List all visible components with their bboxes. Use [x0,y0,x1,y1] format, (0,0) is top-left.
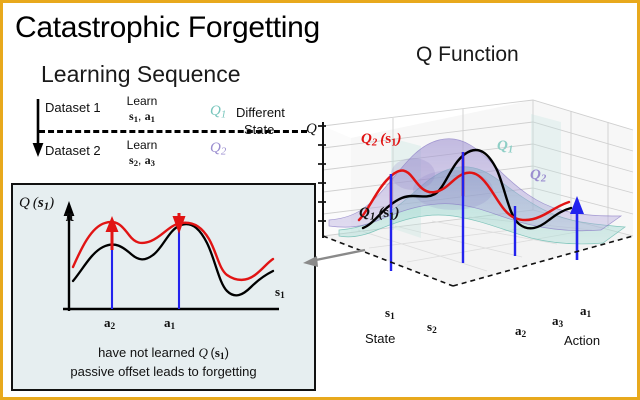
dataset-1-label: Dataset 1 [45,100,101,115]
q-axis-label: Q [306,121,317,138]
q1-surface-label: Q1 [497,138,513,155]
inset-tick-a1: a1 [164,315,175,332]
q2-curve-label: Q2 (s1) [361,131,402,148]
learn-word-2: Learn [107,139,177,153]
learn-target-1: s1, a1 [107,110,177,125]
page-title: Catastrophic Forgetting [15,11,320,45]
different-state-line2: State [244,122,274,137]
inset-tick-a2: a2 [104,315,115,332]
inset-x-axis-label: s1 [275,284,285,301]
slide-canvas: Catastrophic Forgetting Learning Sequenc… [0,0,640,400]
learn-block-1: Learn s1, a1 [107,95,177,125]
action-axis-name: Action [564,333,600,348]
state-axis-name: State [365,331,395,346]
q-function-title: Q Function [416,43,519,67]
learn-block-2: Learn s2, a3 [107,139,177,169]
inset-caption-line1: have not learned Q (s1) [11,345,316,362]
inset-caption-line2: passive offset leads to forgetting [11,364,316,379]
q2-legend-label: Q2 [210,140,226,157]
callout-arrow-icon [303,250,365,267]
state-tick-s2: s2 [427,319,437,336]
q1-curve-label: Q1 (s1) [359,205,400,222]
dataset-2-label: Dataset 2 [45,143,101,158]
action-tick-a2: a2 [515,323,526,340]
q2-surface-label: Q2 [530,167,546,184]
q1-legend-label: Q1 [210,103,226,120]
state-tick-s1: s1 [385,305,395,322]
action-tick-a1: a1 [580,303,591,320]
learning-sequence-heading: Learning Sequence [41,61,241,88]
different-state-line1: Different [236,105,285,120]
learn-target-2: s2, a3 [107,154,177,169]
inset-policy-symbol: π [65,208,74,226]
inset-y-axis-label: Q (s1) [19,195,54,212]
learn-word-1: Learn [107,95,177,109]
action-tick-a3: a3 [552,313,563,330]
